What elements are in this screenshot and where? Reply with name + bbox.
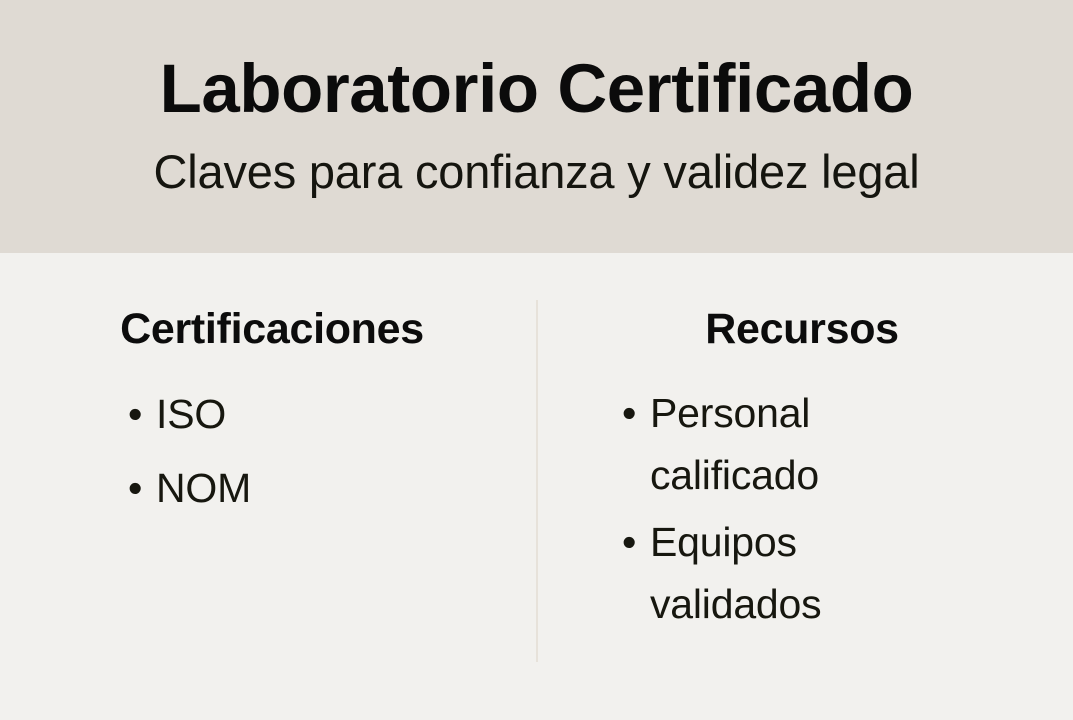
list-item: • Personal calificado [622,383,910,506]
bullet-icon: • [128,458,156,520]
column-heading-certificaciones: Certificaciones [22,253,522,353]
page-title: Laboratorio Certificado [0,53,1073,125]
bullet-icon: • [622,512,650,574]
list-item: • ISO [128,384,522,446]
column-divider [536,300,538,662]
bullet-icon: • [128,384,156,446]
content-area: Certificaciones • ISO • NOM Recursos • P… [0,253,1073,720]
page-subtitle: Claves para confianza y validez legal [0,147,1073,198]
list-item-label: NOM [156,465,251,511]
list-item-label: Equipos validados [650,519,821,627]
column-heading-recursos: Recursos [552,253,1052,353]
list-item: • NOM [128,458,522,520]
bullet-icon: • [622,383,650,445]
list-item-label: ISO [156,391,226,437]
list-item-label: Personal calificado [650,390,819,498]
bullet-list-recursos: • Personal calificado • Equipos validado… [552,383,1052,635]
column-certificaciones: Certificaciones • ISO • NOM [22,253,522,531]
bullet-list-certificaciones: • ISO • NOM [22,384,522,519]
slide-canvas: Laboratorio Certificado Claves para conf… [0,0,1073,720]
column-recursos: Recursos • Personal calificado • Equipos… [552,253,1052,641]
header-band: Laboratorio Certificado Claves para conf… [0,0,1073,253]
list-item: • Equipos validados [622,512,910,635]
